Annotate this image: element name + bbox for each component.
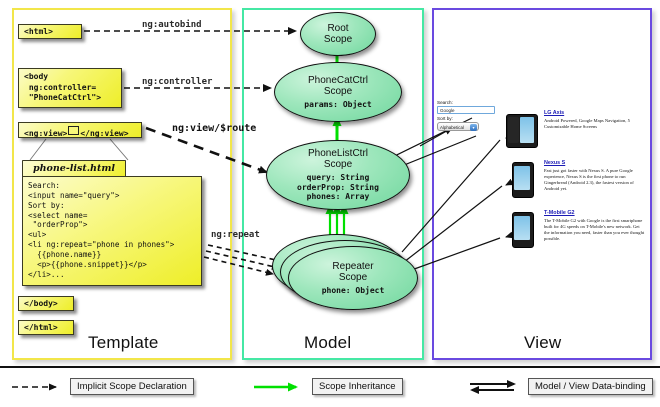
phone-list-item[interactable]: LG Axis Android Powered, Google Maps Nav… — [504, 108, 646, 154]
edge-bind-phone1-line — [402, 140, 500, 252]
sort-select-value: Alphabetical — [440, 125, 464, 130]
phone-snippet: Fast just got faster with Nexus S. A pur… — [544, 168, 646, 192]
edge-label-ng-autobind: ng:autobind — [142, 19, 202, 30]
sort-select[interactable]: Alphabetical ▾ — [437, 122, 479, 131]
legend-label-implicit-scope: Implicit Scope Declaration — [70, 378, 194, 395]
code-box-html-open: <html> — [18, 24, 82, 39]
legend-item-scope-inheritance: Scope Inheritance — [252, 378, 403, 395]
search-input[interactable]: Google — [437, 106, 495, 114]
panel-label-template: Template — [88, 333, 159, 353]
scope-phonelistctrl-props: query: String orderProp: String phones: … — [297, 173, 379, 202]
phone-snippet: The T-Mobile G2 with Google is the first… — [544, 218, 646, 242]
scope-repeater-name-2: Scope — [339, 272, 367, 283]
solid-arrow-icon — [252, 379, 306, 395]
edge-label-ng-repeat: ng:repeat — [211, 230, 260, 240]
panel-label-model: Model — [304, 333, 351, 353]
code-box-body-close: </body> — [18, 296, 74, 311]
template-note-phone-list: phone-list.html Search: <input name="que… — [22, 160, 202, 288]
ng-view-close-tag: </ng:view> — [80, 129, 128, 138]
scope-phonelistctrl-name-2: Scope — [324, 159, 352, 170]
ng-view-slot-icon — [68, 126, 79, 135]
phone-name-link[interactable]: LG Axis — [544, 110, 646, 116]
phone-list-item[interactable]: T-Mobile G2 The T-Mobile G2 with Google … — [504, 208, 646, 254]
ng-view-open-tag: <ng:view> — [24, 129, 67, 138]
legend-label-scope-inheritance: Scope Inheritance — [312, 378, 403, 395]
phone-snippet: Android Powered, Google Maps Navigation,… — [544, 118, 646, 130]
legend-item-data-binding: Model / View Data-binding — [468, 378, 653, 395]
edge-label-ng-view-route: ng:view/$route — [172, 122, 256, 134]
code-box-ng-view: <ng:view></ng:view> — [18, 122, 142, 138]
scope-root-name-1: Root — [327, 23, 348, 34]
code-box-html-close: </html> — [18, 320, 74, 335]
edge-label-ng-controller: ng:controller — [142, 77, 213, 87]
scope-repeater-props: phone: Object — [322, 286, 385, 296]
scope-phonecatctrl-props: params: Object — [304, 100, 371, 110]
scope-repeater-name-1: Repeater — [332, 261, 373, 272]
legend-label-data-binding: Model / View Data-binding — [528, 378, 653, 395]
view-search-form: Search: Google Sort by: Alphabetical ▾ — [437, 100, 499, 131]
note-code: Search: <input name="query"> Sort by: <s… — [22, 176, 202, 286]
phone-list-item[interactable]: Nexus S Fast just got faster with Nexus … — [504, 158, 646, 204]
phone-thumbnail-icon — [504, 108, 538, 154]
double-arrow-icon — [468, 379, 522, 395]
edge-bind-phone3-line — [406, 238, 500, 272]
phone-thumbnail-icon — [504, 158, 538, 204]
legend-item-implicit-scope: Implicit Scope Declaration — [10, 378, 194, 395]
chevron-down-icon: ▾ — [470, 124, 477, 131]
scope-root: Root Scope — [300, 12, 376, 56]
note-connector-right — [110, 139, 128, 160]
edge-bind-phone2-line — [404, 186, 502, 262]
scope-root-name-2: Scope — [324, 34, 352, 45]
diagram-canvas: ng:autobind ng:controller ng:view/$route… — [0, 0, 660, 405]
scope-phonecatctrl-name-1: PhoneCatCtrl — [308, 75, 368, 86]
legend: Implicit Scope Declaration Scope Inherit… — [0, 366, 660, 407]
scope-phonelistctrl: PhoneListCtrl Scope query: String orderP… — [266, 140, 410, 210]
code-box-body-open: <body ng:controller= "PhoneCatCtrl"> — [18, 68, 122, 108]
edge-ng-repeat-3 — [204, 257, 273, 274]
view-phone-list: LG Axis Android Powered, Google Maps Nav… — [504, 108, 646, 258]
dashed-arrow-icon — [10, 379, 64, 395]
note-connector-left — [30, 139, 46, 160]
phone-name-link[interactable]: Nexus S — [544, 160, 646, 166]
scope-phonecatctrl: PhoneCatCtrl Scope params: Object — [274, 62, 402, 122]
scope-repeater: Repeater Scope phone: Object — [288, 246, 418, 310]
scope-phonelistctrl-name-1: PhoneListCtrl — [308, 148, 368, 159]
phone-thumbnail-icon — [504, 208, 538, 254]
panel-label-view: View — [524, 333, 561, 353]
phone-name-link[interactable]: T-Mobile G2 — [544, 210, 646, 216]
scope-phonecatctrl-name-2: Scope — [324, 86, 352, 97]
